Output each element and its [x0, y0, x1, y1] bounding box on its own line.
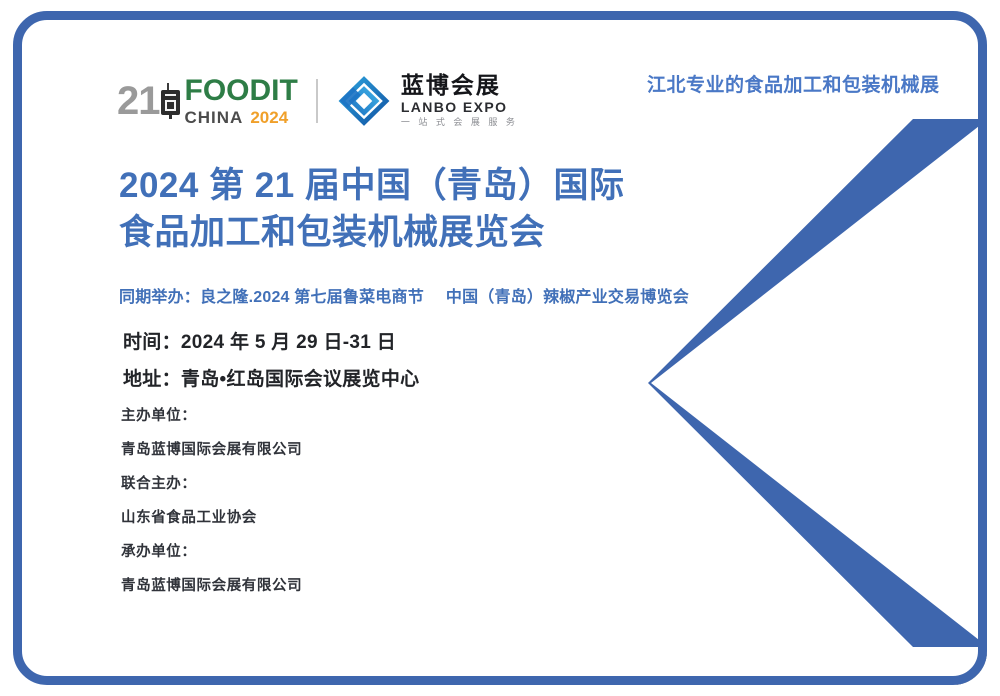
foodit-year: 2024 — [250, 109, 288, 126]
china-pagoda-emblem-icon — [161, 83, 180, 119]
poster-text-content: 21 FOODIT CHINA 2024 — [13, 11, 673, 685]
poster-title: 2024 第 21 届中国（青岛）国际 食品加工和包装机械展览会 — [119, 163, 679, 256]
aisle-crowd — [697, 555, 987, 685]
concurrent-events-line: 同期举办：良之隆.2024 第七届鲁菜电商节中国（青岛）辣椒产业交易博览会 — [119, 283, 689, 307]
lanbo-name-en: LANBO EXPO — [401, 100, 518, 114]
foodit-wordmark: FOODIT CHINA 2024 — [185, 76, 298, 126]
date-value: 2024 年 5 月 29 日-31 日 — [181, 332, 396, 353]
concurrent-event-1: 良之隆.2024 第七届鲁菜电商节 — [200, 289, 424, 306]
foodit-country: CHINA — [185, 109, 244, 126]
hall-header-band: A1展厅 — [697, 303, 987, 387]
event-date-row: 时间：2024 年 5 月 29 日-31 日 — [123, 324, 419, 361]
logo-row: 21 FOODIT CHINA 2024 — [117, 74, 518, 127]
poster-tagline: 江北专业的食品加工和包装机械展 — [647, 70, 940, 97]
address-value: 青岛•红岛国际会议展览中心 — [181, 369, 420, 390]
organizers-block: 主办单位： 青岛蓝博国际会展有限公司 联合主办： 山东省食品工业协会 承办单位：… — [121, 399, 302, 603]
poster-inner-area: A1展厅 — [13, 11, 987, 685]
hall-sign-label: 展厅 — [850, 315, 880, 331]
lanbo-wordmark: 蓝博会展 LANBO EXPO 一 站 式 会 展 服 务 — [401, 74, 518, 127]
event-meta: 时间：2024 年 5 月 29 日-31 日 地址：青岛•红岛国际会议展览中心 — [123, 324, 419, 398]
edition-number: 21 — [117, 81, 160, 121]
lanbo-expo-logo: 蓝博会展 LANBO EXPO 一 站 式 会 展 服 务 — [336, 74, 518, 127]
lanbo-diamond-mark-icon — [336, 75, 392, 127]
co-organizer-value: 山东省食品工业协会 — [121, 501, 302, 535]
concurrent-event-2: 中国（青岛）辣椒产业交易博览会 — [446, 289, 689, 306]
organizer-value: 青岛蓝博国际会展有限公司 — [121, 433, 302, 467]
lanbo-slogan: 一 站 式 会 展 服 务 — [401, 118, 518, 127]
booth-aisle — [697, 387, 987, 563]
organizer-label: 主办单位： — [121, 399, 302, 433]
title-line-1: 2024 第 21 届中国（青岛）国际 — [119, 163, 679, 210]
lanbo-name-cn: 蓝博会展 — [401, 74, 518, 97]
date-label: 时间： — [123, 332, 181, 353]
visitor-crowd — [647, 186, 987, 303]
exhibition-hall-aisle-photo: A1展厅 — [697, 303, 987, 685]
address-label: 地址： — [123, 369, 181, 390]
exhibition-entrance-crowd-photo — [647, 11, 987, 303]
foodit-china-logo: 21 FOODIT CHINA 2024 — [117, 76, 298, 126]
co-organizer-label: 联合主办： — [121, 467, 302, 501]
green-banner-sign — [647, 122, 987, 180]
foodit-word: FOODIT — [185, 76, 298, 106]
title-line-2: 食品加工和包装机械展览会 — [119, 210, 679, 257]
hall-sign-code: A1 — [807, 306, 846, 339]
concurrent-label: 同期举办： — [119, 289, 200, 306]
logo-divider — [316, 79, 318, 123]
host-value: 青岛蓝博国际会展有限公司 — [121, 569, 302, 603]
host-label: 承办单位： — [121, 535, 302, 569]
exhibition-poster: A1展厅 — [0, 0, 1000, 696]
event-address-row: 地址：青岛•红岛国际会议展览中心 — [123, 361, 419, 398]
hall-sign: A1展厅 — [807, 306, 880, 340]
